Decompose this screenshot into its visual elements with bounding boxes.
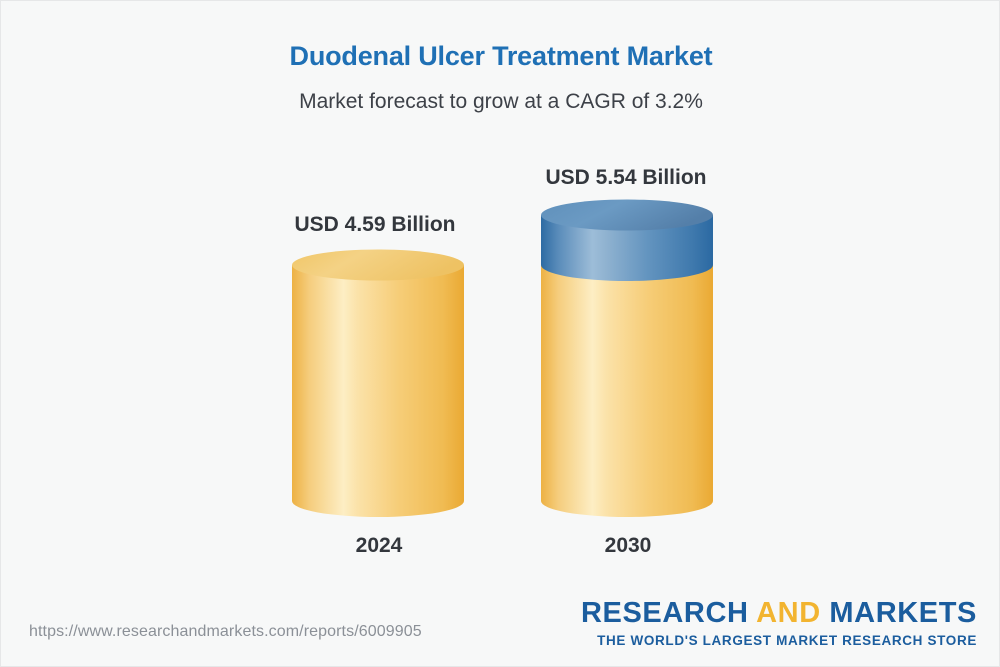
cylinder-body-base-2030 [541, 265, 713, 517]
bar-cylinder-2024[interactable] [289, 249, 467, 521]
bar-category-label-2030: 2030 [539, 534, 717, 558]
source-url[interactable]: https://www.researchandmarkets.com/repor… [29, 623, 422, 641]
plot-area: USD 4.59 Billion [1, 1, 1000, 667]
brand-name: RESEARCH AND MARKETS [581, 599, 977, 628]
cylinder-top-2024 [292, 250, 464, 281]
bar-value-label-2024: USD 4.59 Billion [267, 213, 483, 237]
cylinder-body-2024 [292, 265, 464, 517]
bar-category-label-2024: 2024 [290, 534, 468, 558]
bar-value-label-2030: USD 5.54 Billion [518, 166, 734, 190]
cylinder-top-2030 [541, 200, 713, 231]
brand-name-and: AND [756, 597, 821, 629]
brand-tagline: THE WORLD'S LARGEST MARKET RESEARCH STOR… [581, 633, 977, 648]
brand-name-markets: MARKETS [821, 597, 977, 629]
brand-logo[interactable]: RESEARCH AND MARKETS THE WORLD'S LARGEST… [581, 599, 977, 648]
brand-name-research: RESEARCH [581, 597, 756, 629]
bar-cylinder-2030[interactable] [538, 199, 716, 521]
chart-canvas: Duodenal Ulcer Treatment Market Market f… [0, 0, 1000, 667]
